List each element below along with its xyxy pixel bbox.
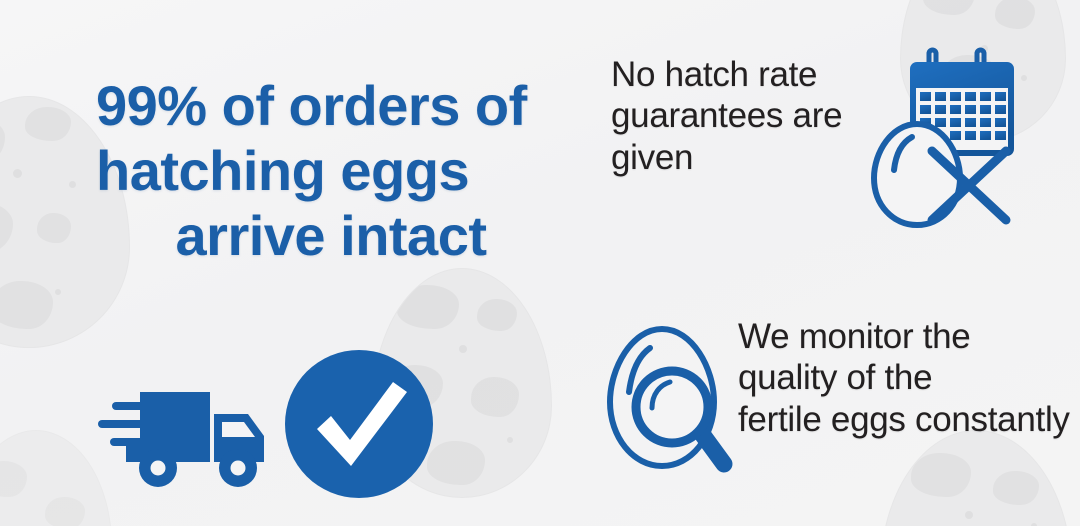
egg-magnifier-icon <box>596 324 738 484</box>
check-circle-icon <box>283 348 435 500</box>
note-hatch-line-2: guarantees are <box>611 95 842 136</box>
note-hatch-line-1: No hatch rate <box>611 54 842 95</box>
egg-watermark <box>880 430 1072 526</box>
note-quality-line-1: We monitor the <box>738 316 1070 357</box>
calendar-egg-cross-icon <box>872 48 1020 236</box>
infographic-canvas: 99% of orders of hatching eggs arrive in… <box>0 0 1080 526</box>
delivery-truck-icon <box>98 380 280 490</box>
headline: 99% of orders of hatching eggs arrive in… <box>96 74 566 269</box>
note-hatch-line-3: given <box>611 137 842 178</box>
note-quality-line-3: fertile eggs constantly <box>738 399 1070 440</box>
note-quality-monitoring: We monitor the quality of the fertile eg… <box>738 316 1070 440</box>
headline-line-2: hatching eggs <box>96 139 566 204</box>
headline-line-1: 99% of orders of <box>96 74 566 139</box>
note-hatch-guarantee: No hatch rate guarantees are given <box>611 54 842 178</box>
note-quality-line-2: quality of the <box>738 357 1070 398</box>
egg-watermark <box>0 430 112 526</box>
headline-line-3: arrive intact <box>96 204 566 269</box>
